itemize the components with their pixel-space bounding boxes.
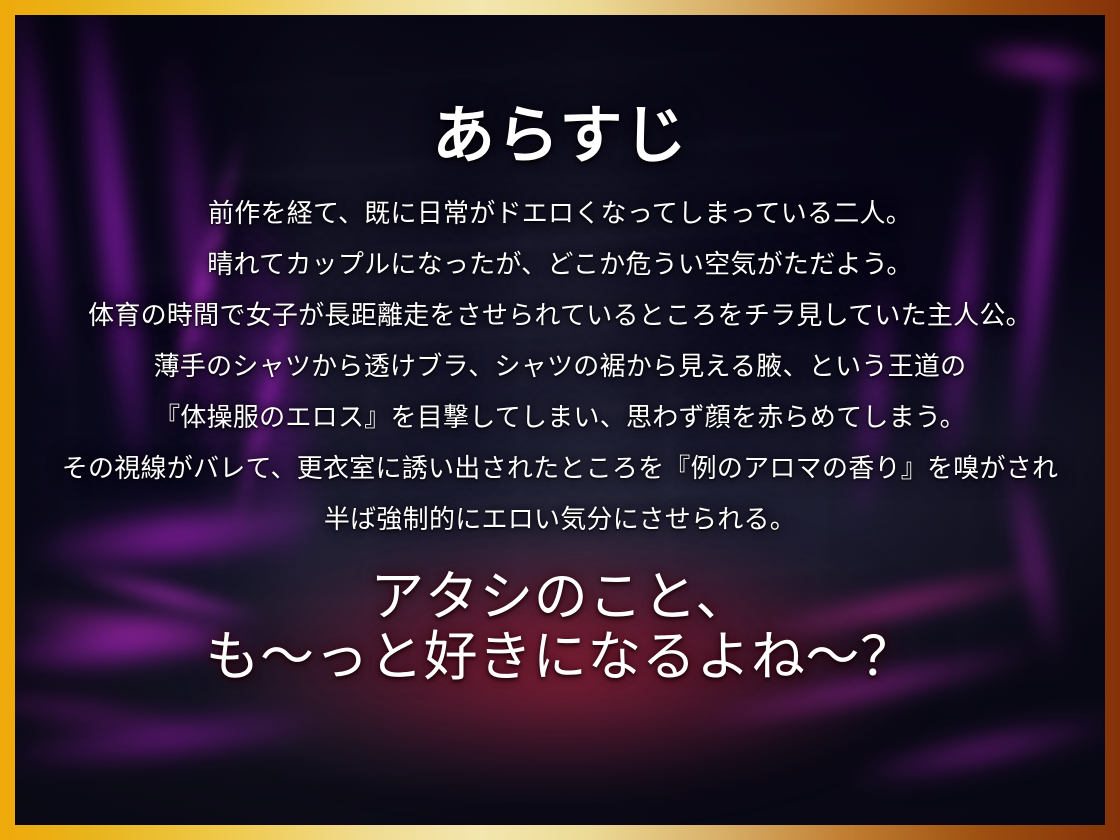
synopsis-body: 前作を経て、既に日常がドエロくなってしまっている二人。 晴れてカップルになったが…	[15, 201, 1105, 533]
synopsis-line: 薄手のシャツから透けブラ、シャツの裾から見える腋、という王道の	[154, 354, 967, 380]
synopsis-line: 半ば強制的にエロい気分にさせられる。	[324, 507, 796, 533]
character-quote: アタシのこと、 も〜っと好きになるよね〜？	[15, 567, 1105, 688]
quote-line: アタシのこと、	[370, 567, 750, 627]
text-content: あらすじ 前作を経て、既に日常がドエロくなってしまっている二人。 晴れてカップル…	[15, 15, 1105, 825]
gold-frame: あらすじ 前作を経て、既に日常がドエロくなってしまっている二人。 晴れてカップル…	[0, 0, 1120, 840]
synopsis-line: その視線がバレて、更衣室に誘い出されたところを『例のアロマの香り』を嗅がされ	[62, 456, 1059, 482]
synopsis-line: 体育の時間で女子が長距離走をさせられているところをチラ見していた主人公。	[88, 303, 1032, 329]
synopsis-line: 前作を経て、既に日常がドエロくなってしまっている二人。	[208, 201, 912, 227]
synopsis-line: 晴れてカップルになったが、どこか危うい空気がただよう。	[207, 252, 912, 278]
synopsis-line: 『体操服のエロス』を目撃してしまい、思わず顔を赤らめてしまう。	[154, 405, 966, 431]
artwork-panel: あらすじ 前作を経て、既に日常がドエロくなってしまっている二人。 晴れてカップル…	[15, 15, 1105, 825]
synopsis-title: あらすじ	[432, 104, 688, 167]
quote-line: も〜っと好きになるよね〜？	[205, 627, 914, 687]
